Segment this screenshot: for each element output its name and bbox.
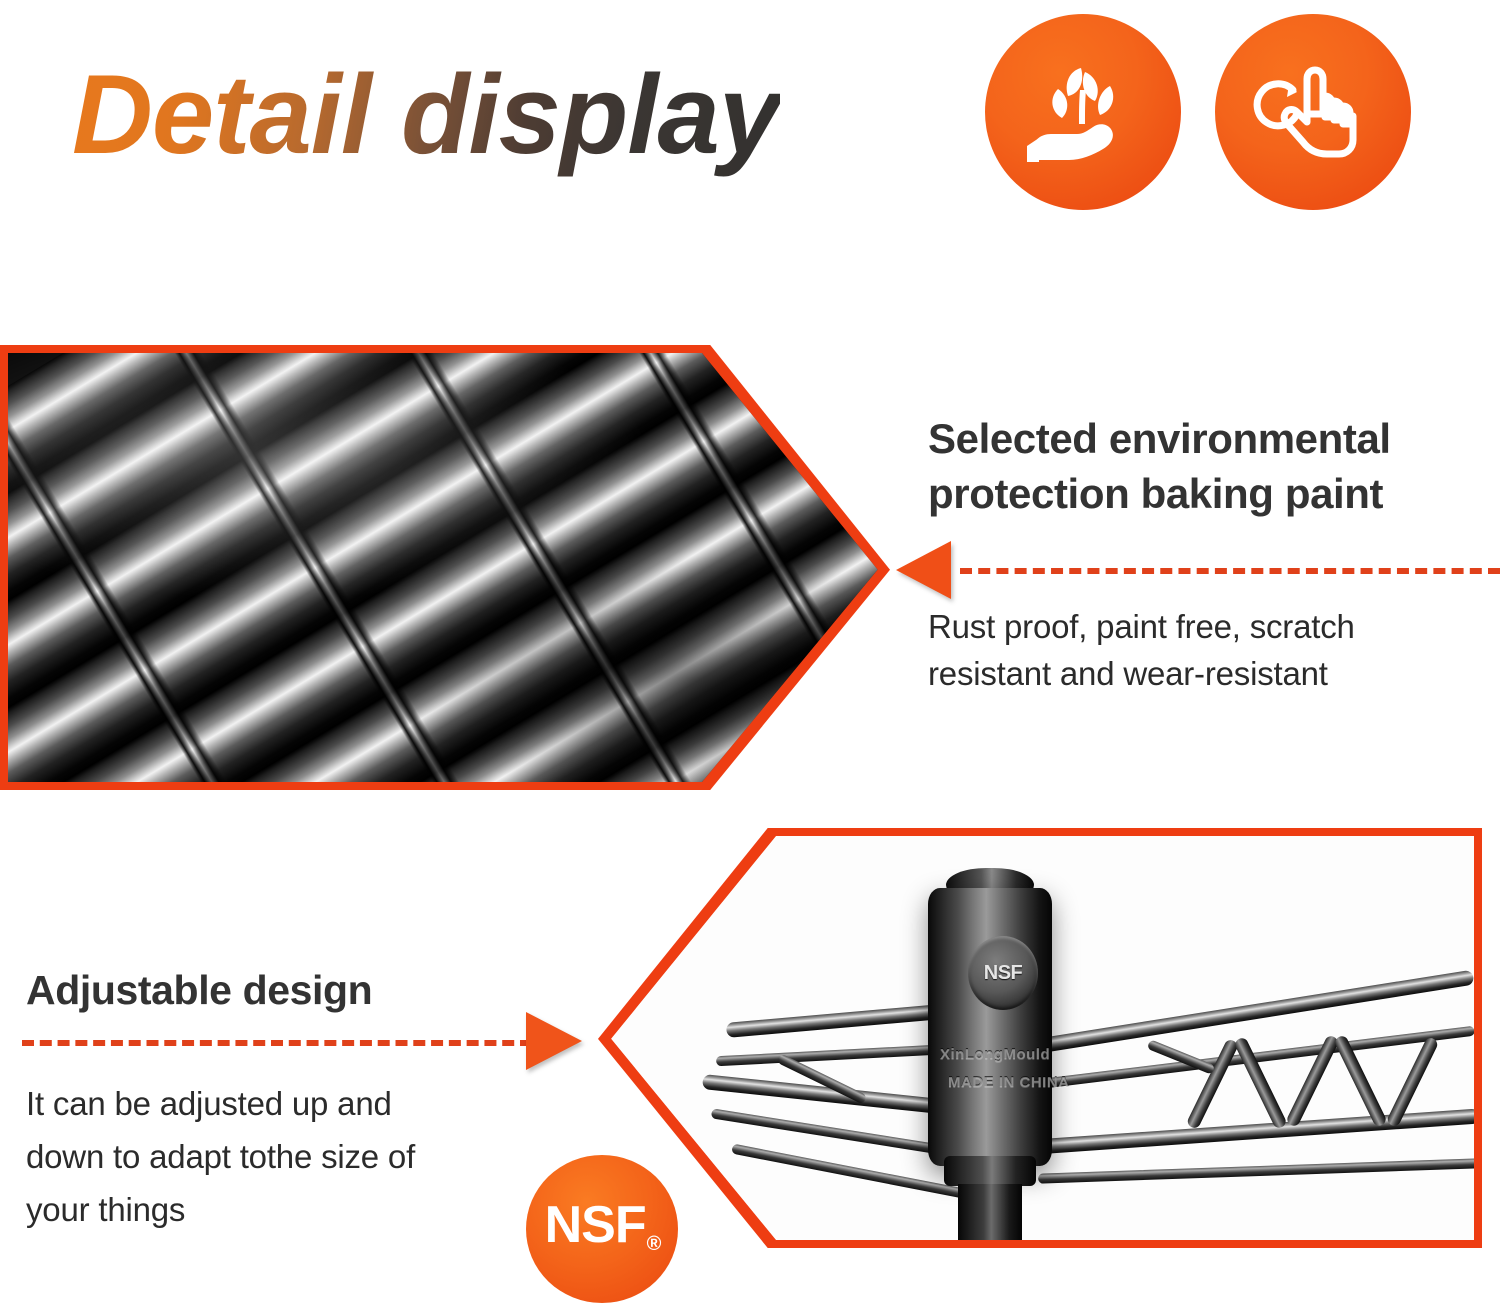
hand-pointing-rotate-icon (1245, 44, 1381, 180)
baking-paint-text-block: Selected environmental protection baking… (928, 412, 1500, 521)
nsf-registered-mark: ® (647, 1233, 661, 1255)
adjustable-design-heading: Adjustable design (26, 966, 496, 1015)
shelf-pole (958, 1184, 1022, 1240)
adjustable-collar (928, 888, 1052, 1166)
eco-friendly-badge (985, 14, 1181, 210)
rod-gloss-overlay (8, 353, 882, 782)
paint-callout-dashed-line (960, 568, 1500, 574)
hand-holding-plant-icon (1017, 46, 1149, 178)
collar-nsf-emboss-text: NSF (984, 962, 1023, 985)
adjustable-badge (1215, 14, 1411, 210)
nsf-certification-badge: NSF® (526, 1155, 678, 1303)
baking-paint-body: Rust proof, paint free, scratch resistan… (928, 604, 1458, 698)
detail-display-page: Detail display (0, 0, 1500, 1303)
nsf-badge-text: NSF (545, 1196, 646, 1254)
page-header: Detail display (0, 0, 1500, 245)
collar-foot (944, 1156, 1036, 1186)
page-title: Detail display (72, 52, 780, 177)
collar-brand-text: XinLongMould (940, 1046, 1050, 1063)
shelf-post-photo-frame: NSF XinLongMould MADE IN CHINA (598, 828, 1482, 1248)
collar-nsf-emboss-icon: NSF (968, 936, 1038, 1010)
collar-origin-text: MADE IN CHINA (948, 1074, 1070, 1091)
nsf-badge-label: NSF® (545, 1199, 660, 1251)
baking-paint-photo-frame (0, 345, 890, 790)
paint-callout-arrow-icon (896, 541, 951, 599)
adjustable-callout-dashed-line (22, 1040, 532, 1046)
shelf-post-photo: NSF XinLongMould MADE IN CHINA (606, 836, 1474, 1240)
baking-paint-photo (8, 353, 882, 782)
adjustable-design-text-block: Adjustable design It can be adjusted up … (26, 966, 496, 1015)
adjustable-callout-arrow-icon (526, 1012, 582, 1070)
adjustable-design-body: It can be adjusted up and down to adapt … (26, 1078, 466, 1236)
baking-paint-heading: Selected environmental protection baking… (928, 412, 1500, 521)
